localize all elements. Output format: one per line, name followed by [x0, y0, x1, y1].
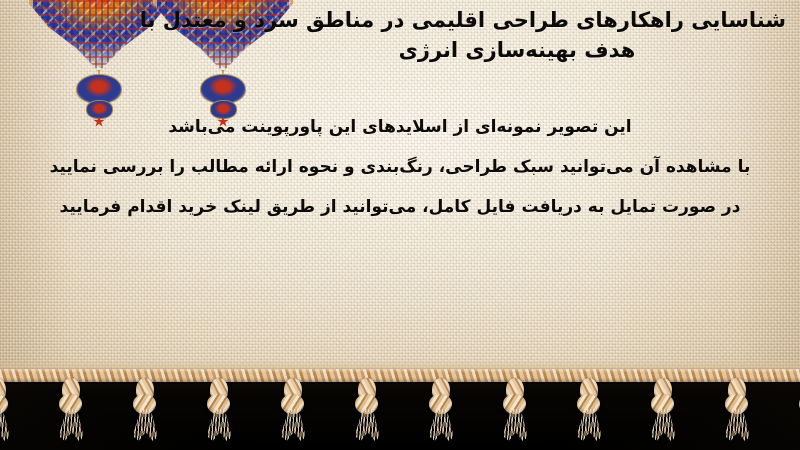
fringe-tassel — [502, 378, 528, 440]
fringe-tassel — [576, 378, 602, 440]
tassel-threads-icon — [353, 409, 381, 441]
presentation-slide: شناسایی راهکارهای طراحی اقلیمی در مناطق … — [0, 0, 800, 450]
slide-body-line: در صورت تمایل به دریافت فایل کامل، می‌تو… — [0, 188, 800, 228]
tassel-threads-icon — [0, 409, 11, 441]
tassel-threads-icon — [575, 409, 603, 441]
fringe-tassel — [428, 378, 454, 440]
slide-body-line: این تصویر نمونه‌ای از اسلایدهای این پاور… — [0, 108, 800, 148]
slide-title-line: شناسایی راهکارهای طراحی اقلیمی در مناطق … — [248, 6, 786, 36]
tassel-threads-icon — [427, 409, 455, 441]
slide-title-line: هدف بهینه‌سازی انرژی — [248, 36, 786, 66]
tassel-threads-icon — [723, 409, 751, 441]
fringe-tassel — [206, 378, 232, 440]
fringe-tassel — [724, 378, 750, 440]
tassel-threads-icon — [501, 409, 529, 441]
tassel-threads-icon — [279, 409, 307, 441]
slide-body-text: این تصویر نمونه‌ای از اسلایدهای این پاور… — [0, 108, 800, 228]
fringe-tassel — [132, 378, 158, 440]
slide-title: شناسایی راهکارهای طراحی اقلیمی در مناطق … — [248, 6, 786, 66]
fringe-tassel — [280, 378, 306, 440]
carpet-cord — [0, 369, 800, 382]
slide-body-line: با مشاهده آن می‌توانید سبک طراحی، رنگ‌بن… — [0, 148, 800, 188]
tassel-threads-icon — [57, 409, 85, 441]
tassel-threads-icon — [649, 409, 677, 441]
fringe-tassel — [354, 378, 380, 440]
tassel-threads-icon — [131, 409, 159, 441]
fringe-tassel — [650, 378, 676, 440]
fringe-tassel — [58, 378, 84, 440]
fringe-tassel — [0, 378, 10, 440]
carpet-black-band — [0, 372, 800, 450]
tassel-threads-icon — [205, 409, 233, 441]
